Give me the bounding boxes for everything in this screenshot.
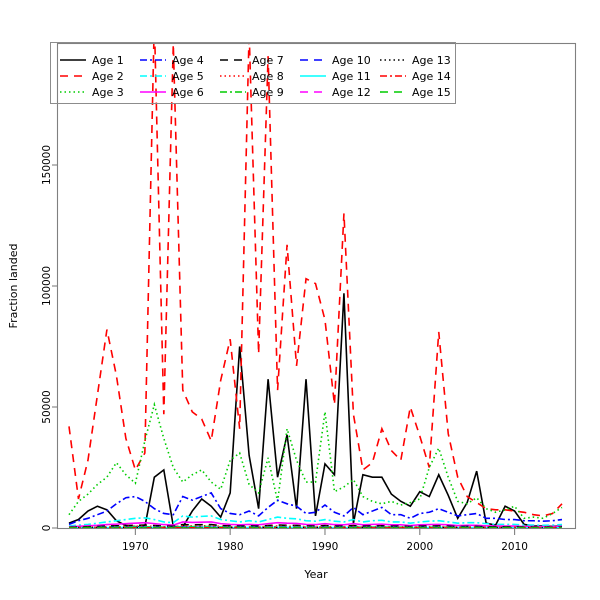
x-tick-label: 1990 bbox=[312, 541, 339, 553]
legend-label-age-7[interactable]: Age 7 bbox=[252, 54, 284, 67]
x-tick-label: 1970 bbox=[122, 541, 149, 553]
legend-label-age-11[interactable]: Age 11 bbox=[332, 70, 371, 83]
y-tick-label: 150000 bbox=[41, 145, 53, 185]
legend-label-age-4[interactable]: Age 4 bbox=[172, 54, 204, 67]
series-group bbox=[69, 20, 562, 528]
y-tick-label: 50000 bbox=[41, 390, 53, 423]
y-axis-title: Fraction landed bbox=[7, 244, 20, 329]
legend-label-age-2[interactable]: Age 2 bbox=[92, 70, 124, 83]
series-line-age-2 bbox=[69, 20, 562, 516]
x-tick-label: 2000 bbox=[406, 541, 433, 553]
x-axis: 19701980199020002010 bbox=[122, 528, 528, 553]
legend-label-age-14[interactable]: Age 14 bbox=[412, 70, 451, 83]
y-tick-label: 0 bbox=[41, 525, 53, 532]
legend-label-age-8[interactable]: Age 8 bbox=[252, 70, 284, 83]
y-tick-label: 100000 bbox=[41, 266, 53, 306]
legend-label-age-13[interactable]: Age 13 bbox=[412, 54, 451, 67]
legend[interactable]: Age 1Age 2Age 3Age 4Age 5Age 6Age 7Age 8… bbox=[60, 54, 451, 99]
y-axis: 050000100000150000 bbox=[41, 145, 58, 531]
legend-label-age-3[interactable]: Age 3 bbox=[92, 86, 124, 99]
x-tick-label: 2010 bbox=[501, 541, 528, 553]
x-axis-title: Year bbox=[303, 568, 328, 581]
line-chart-svg: 050000100000150000 19701980199020002010 … bbox=[0, 0, 600, 600]
legend-label-age-1[interactable]: Age 1 bbox=[92, 54, 124, 67]
legend-label-age-12[interactable]: Age 12 bbox=[332, 86, 371, 99]
legend-label-age-15[interactable]: Age 15 bbox=[412, 86, 451, 99]
legend-label-age-5[interactable]: Age 5 bbox=[172, 70, 204, 83]
x-tick-label: 1980 bbox=[217, 541, 244, 553]
legend-label-age-9[interactable]: Age 9 bbox=[252, 86, 284, 99]
legend-label-age-6[interactable]: Age 6 bbox=[172, 86, 204, 99]
series-line-age-1 bbox=[69, 293, 562, 527]
legend-label-age-10[interactable]: Age 10 bbox=[332, 54, 371, 67]
chart-container: 050000100000150000 19701980199020002010 … bbox=[0, 0, 600, 600]
